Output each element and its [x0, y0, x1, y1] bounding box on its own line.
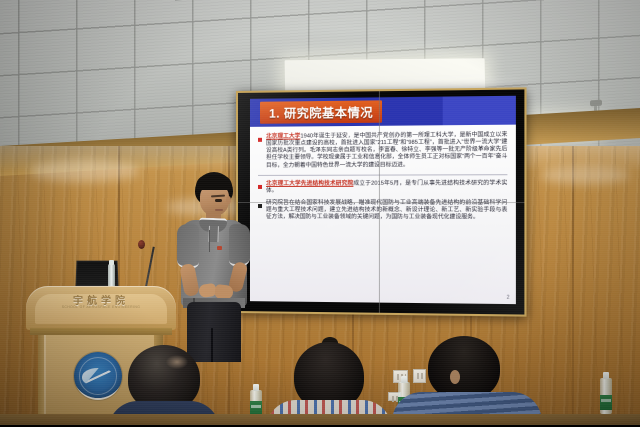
- presenter-shirt-logo: [217, 246, 222, 250]
- bullet-marker-icon: [258, 204, 262, 208]
- bullet-body: 研究院旨在结合国家科技发展战略，瞄准现代国防与工业高端装备先进结构的前沿基础科学…: [266, 200, 507, 221]
- audience-head: [428, 336, 500, 400]
- lectern-top: 宇航学院 SCHOOL OF AEROSPACE ENGINEERING: [26, 286, 176, 330]
- audience-ear: [450, 370, 460, 384]
- presentation-slide: 1. 研究院基本情况 北京理工大学1940年诞生于延安，是中国共产党创办的第一所…: [250, 96, 516, 304]
- bullet-marker-icon: [258, 185, 262, 189]
- slide-bullet: 研究院旨在结合国家科技发展战略，瞄准现代国防与工业高端装备先进结构的前沿基础科学…: [258, 200, 507, 222]
- presentation-room-photo: 1. 研究院基本情况 北京理工大学1940年诞生于延安，是中国共产党创办的第一所…: [0, 0, 640, 427]
- bullet-highlight: 北京理工大学先进结构技术研究院: [266, 181, 353, 187]
- bullet-marker-icon: [258, 138, 262, 142]
- video-wall-display[interactable]: 1. 研究院基本情况 北京理工大学1940年诞生于延安，是中国共产党创办的第一所…: [236, 87, 527, 316]
- lectern-subtitle: SCHOOL OF AEROSPACE ENGINEERING: [26, 305, 176, 309]
- panel-seam-horizontal: [238, 202, 524, 203]
- presenter-mouth: [215, 209, 223, 211]
- presenter-ear: [226, 196, 231, 204]
- presenter-sleeve-right: [229, 224, 250, 266]
- microphone-icon[interactable]: [138, 240, 145, 249]
- slide-page-number: 2: [507, 295, 510, 301]
- presenter-eye: [215, 199, 222, 202]
- slide-header-band: 1. 研究院基本情况: [250, 96, 516, 127]
- wall-seam: [572, 146, 574, 427]
- presenter-sleeve-left: [177, 224, 199, 268]
- slide-bullet: 北京理工大学先进结构技术研究院成立于2015年5月，是专门从事先进结构技术研究的…: [258, 180, 507, 195]
- bullet-text: 北京理工大学先进结构技术研究院成立于2015年5月，是专门从事先进结构技术研究的…: [266, 180, 507, 195]
- slide-divider: [258, 174, 507, 176]
- slide-bullet: 北京理工大学1940年诞生于延安，是中国共产党创办的第一所理工科大学，是新中国成…: [258, 132, 507, 170]
- bullet-highlight: 北京理工大学: [266, 134, 300, 140]
- slide-body: 北京理工大学1940年诞生于延安，是中国共产党创办的第一所理工科大学，是新中国成…: [250, 125, 516, 304]
- slide-title: 1. 研究院基本情况: [260, 100, 382, 123]
- bottle-label: [600, 395, 612, 410]
- lectern-lip: [30, 328, 172, 335]
- presenter: [173, 172, 257, 362]
- water-bottle-on-lectern[interactable]: [108, 264, 115, 288]
- presenter-fringe: [196, 175, 232, 190]
- bullet-text: 研究院旨在结合国家科技发展战略，瞄准现代国防与工业高端装备先进结构的前沿基础科学…: [266, 200, 507, 222]
- bullet-text: 北京理工大学1940年诞生于延安，是中国共产党创办的第一所理工科大学，是新中国成…: [266, 132, 507, 170]
- presenter-placket: [209, 230, 210, 252]
- audience-scalp-highlight: [166, 355, 188, 369]
- bullet-body: 1940年诞生于延安，是中国共产党创办的第一所理工科大学，是新中国成立以来国家历…: [266, 132, 507, 169]
- water-bottle[interactable]: [600, 378, 612, 414]
